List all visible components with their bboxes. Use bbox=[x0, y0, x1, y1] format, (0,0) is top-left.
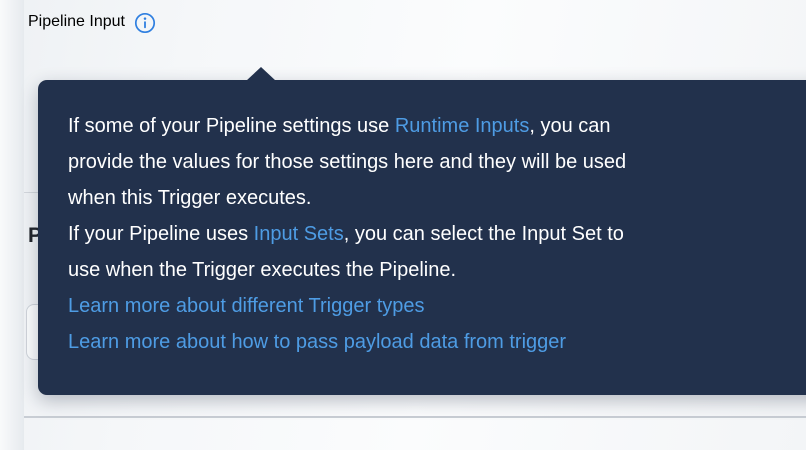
runtime-inputs-link[interactable]: Runtime Inputs bbox=[395, 115, 530, 137]
tooltip-paragraph-2-line-1: If your Pipeline uses Input Sets, you ca… bbox=[68, 216, 806, 252]
page-left-gutter bbox=[0, 0, 24, 450]
section-divider-bottom bbox=[24, 416, 806, 418]
tooltip-content: If some of your Pipeline settings use Ru… bbox=[68, 108, 806, 360]
page-title: Pipeline Input bbox=[28, 13, 125, 31]
pipeline-input-tooltip: If some of your Pipeline settings use Ru… bbox=[38, 80, 806, 395]
info-circle-icon[interactable] bbox=[134, 12, 156, 34]
tooltip-paragraph-1-line-2: provide the values for those settings he… bbox=[68, 144, 806, 180]
tooltip-paragraph-2-line-2: use when the Trigger executes the Pipeli… bbox=[68, 252, 806, 288]
tooltip-text-segment: If your Pipeline uses bbox=[68, 223, 254, 245]
page-background: P Pipeline Input If some of your Pipelin… bbox=[0, 0, 806, 450]
tooltip-text-segment: , you can bbox=[529, 115, 610, 137]
input-sets-link[interactable]: Input Sets bbox=[254, 223, 344, 245]
tooltip-paragraph-1-line-1: If some of your Pipeline settings use Ru… bbox=[68, 108, 806, 144]
tooltip-text-segment: If some of your Pipeline settings use bbox=[68, 115, 395, 137]
tooltip-caret bbox=[246, 67, 276, 81]
page-header: Pipeline Input bbox=[28, 9, 156, 34]
tooltip-paragraph-1-line-3: when this Trigger executes. bbox=[68, 180, 806, 216]
learn-more-trigger-types-link[interactable]: Learn more about different Trigger types bbox=[68, 288, 806, 324]
learn-more-payload-data-link[interactable]: Learn more about how to pass payload dat… bbox=[68, 324, 806, 360]
tooltip-text-segment: , you can select the Input Set to bbox=[344, 223, 624, 245]
